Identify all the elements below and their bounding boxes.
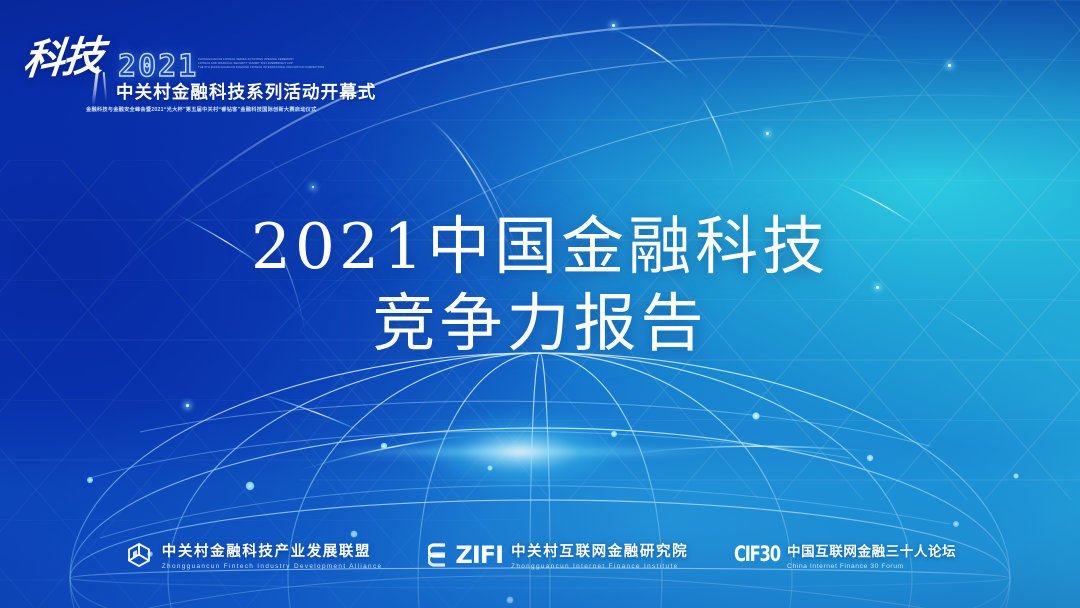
partner-logo-text: 中关村互联网金融研究院 Zhongguancun Internet Financ… — [511, 540, 688, 571]
partner-name-cn: 中国互联网金融三十人论坛 — [787, 540, 956, 560]
micro-english-line-3: THE 5TH ZHONGGUANCUN DIAMOND FINTECH INT… — [198, 66, 330, 70]
page-title: 2021中国金融科技 竞争力报告 — [0, 212, 1080, 359]
zifi-bracket-icon — [428, 542, 447, 568]
partner-logo-text: 中关村金融科技产业发展联盟 Zhongguancun Fintech Indus… — [162, 540, 383, 571]
partner-logo-text: 中国互联网金融三十人论坛 China Internet Finance 30 F… — [787, 540, 956, 570]
partner-name-en: Zhongguancun Internet Finance Institute — [511, 563, 688, 570]
particle — [312, 186, 314, 188]
partner-name-en: China Internet Finance 30 Forum — [787, 563, 956, 570]
brush-stroke-tail2 — [103, 72, 108, 102]
title-line-2: 竞争力报告 — [0, 289, 1080, 360]
partner-name-cn: 中关村金融科技产业发展联盟 — [162, 540, 383, 561]
zifi-wordmark: ZIFI — [455, 543, 503, 567]
particle — [186, 404, 189, 407]
partner-name-en: Zhongguancun Fintech Industry Developmen… — [162, 563, 383, 570]
title-line-1: 2021中国金融科技 — [0, 212, 1080, 283]
particle — [948, 64, 951, 67]
brush-calligraphy-keji: 科技 — [21, 22, 106, 86]
event-micro-english: ZHONGGUANCUN FINTECH SERIES ACTIVITIES O… — [198, 58, 330, 70]
particle — [612, 24, 615, 27]
partner-logo-strip: 中关村金融科技产业发展联盟 Zhongguancun Fintech Indus… — [0, 540, 1080, 571]
partner-logo-cif30: CIF30 中国互联网金融三十人论坛 China Internet Financ… — [734, 540, 956, 570]
partner-logo-alliance: 中关村金融科技产业发展联盟 Zhongguancun Fintech Indus… — [124, 540, 383, 571]
cif30-wordmark: CIF30 — [734, 544, 780, 565]
event-sub-line: 金融科技与金融安全峰会暨2021“光大杯”第五届中关村“睿钻客”金融科技国际创新… — [86, 106, 317, 113]
partner-name-cn: 中关村互联网金融研究院 — [511, 540, 688, 561]
particle — [766, 132, 769, 135]
poster-canvas: 科技 2021 ZHONGGUANCUN FINTECH SERIES ACTI… — [0, 0, 1080, 608]
cube-mark-icon — [124, 541, 154, 569]
partner-logo-zifi: ZIFI 中关村互联网金融研究院 Zhongguancun Internet F… — [428, 540, 688, 571]
event-logo: 科技 2021 ZHONGGUANCUN FINTECH SERIES ACTI… — [22, 22, 332, 104]
event-main-line: 中关村金融科技系列活动开幕式 — [116, 79, 376, 104]
